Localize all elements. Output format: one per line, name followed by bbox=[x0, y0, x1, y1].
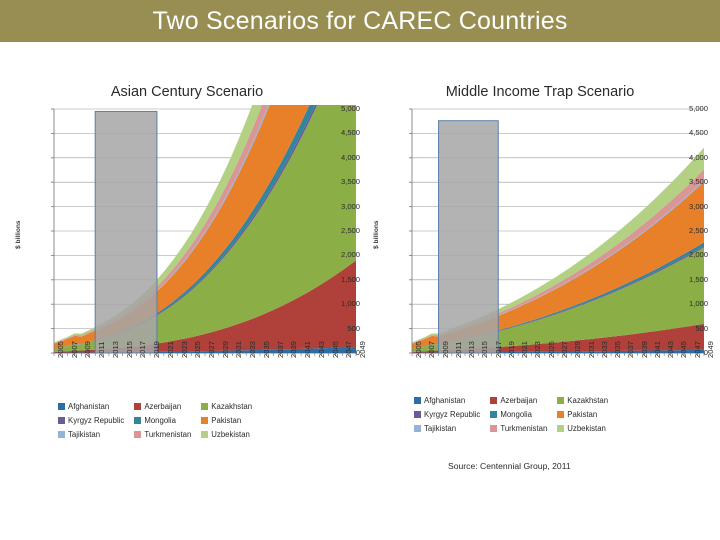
legend-item-mongolia[interactable]: Mongolia bbox=[490, 410, 547, 419]
x-tick-label: 2031 bbox=[588, 341, 596, 358]
legend-label: Azerbaijan bbox=[144, 402, 181, 411]
y-tick-label: 5,000 bbox=[674, 105, 708, 113]
legend-item-azerbaijan[interactable]: Azerbaijan bbox=[134, 402, 191, 411]
x-tick-label: 2021 bbox=[167, 341, 175, 358]
x-tick-label: 2027 bbox=[561, 341, 569, 358]
legend-label: Kyrgyz Republic bbox=[68, 416, 124, 425]
legend-item-kyrgyz-republic[interactable]: Kyrgyz Republic bbox=[414, 410, 480, 419]
chart-title-middle-income-trap: Middle Income Trap Scenario bbox=[372, 84, 708, 100]
x-tick-label: 2033 bbox=[601, 341, 609, 358]
x-tick-label: 2045 bbox=[332, 341, 340, 358]
x-tick-label: 2027 bbox=[208, 341, 216, 358]
legend-label: Afghanistan bbox=[424, 396, 465, 405]
chart-panel-middle-income-trap: Middle Income Trap Scenario 05001,0001,5… bbox=[372, 84, 708, 395]
legend-label: Mongolia bbox=[500, 410, 532, 419]
y-tick-label: 3,000 bbox=[674, 203, 708, 211]
x-tick-label: 2031 bbox=[235, 341, 243, 358]
legend-label: Pakistan bbox=[211, 416, 241, 425]
y-tick-label: 3,500 bbox=[326, 178, 360, 186]
x-tick-label: 2009 bbox=[442, 341, 450, 358]
x-tick-label: 2029 bbox=[222, 341, 230, 358]
legend-label: Tajikistan bbox=[424, 424, 456, 433]
slide-canvas: Two Scenarios for CAREC Countries Asian … bbox=[0, 0, 720, 540]
highlight-band bbox=[439, 121, 499, 353]
legend-label: Kazakhstan bbox=[567, 396, 608, 405]
legend-label: Tajikistan bbox=[68, 430, 100, 439]
legend-item-uzbekistan[interactable]: Uzbekistan bbox=[557, 424, 608, 433]
legend-item-uzbekistan[interactable]: Uzbekistan bbox=[201, 430, 252, 439]
x-tick-label: 2025 bbox=[194, 341, 202, 358]
x-tick-label: 2017 bbox=[139, 341, 147, 358]
y-tick-label: 4,500 bbox=[326, 130, 360, 138]
legend-swatch-icon bbox=[58, 417, 65, 424]
y-tick-label: 2,500 bbox=[326, 227, 360, 235]
legend-swatch-icon bbox=[414, 397, 421, 404]
x-tick-label: 2005 bbox=[415, 341, 423, 358]
chart-panel-asian-century: Asian Century Scenario 05001,0001,5002,0… bbox=[14, 84, 360, 395]
legend-label: Mongolia bbox=[144, 416, 176, 425]
legend-label: Pakistan bbox=[567, 410, 597, 419]
x-tick-label: 2033 bbox=[249, 341, 257, 358]
x-tick-label: 2037 bbox=[277, 341, 285, 358]
legend-item-pakistan[interactable]: Pakistan bbox=[201, 416, 252, 425]
x-tick-label: 2035 bbox=[263, 341, 271, 358]
legend-item-pakistan[interactable]: Pakistan bbox=[557, 410, 608, 419]
legend-swatch-icon bbox=[201, 403, 208, 410]
legend-label: Turkmenistan bbox=[144, 430, 191, 439]
x-tick-label: 2025 bbox=[548, 341, 556, 358]
legend-item-tajikistan[interactable]: Tajikistan bbox=[58, 430, 124, 439]
y-tick-label: 5,000 bbox=[326, 105, 360, 113]
y-tick-label: 4,500 bbox=[674, 130, 708, 138]
y-tick-label: 1,500 bbox=[674, 276, 708, 284]
x-tick-label: 2049 bbox=[707, 341, 715, 358]
legend-label: Afghanistan bbox=[68, 402, 109, 411]
y-tick-label: 4,000 bbox=[326, 154, 360, 162]
x-tick-label: 2007 bbox=[71, 341, 79, 358]
legend-swatch-icon bbox=[557, 411, 564, 418]
legend-item-mongolia[interactable]: Mongolia bbox=[134, 416, 191, 425]
legend-swatch-icon bbox=[414, 425, 421, 432]
legend-item-kyrgyz-republic[interactable]: Kyrgyz Republic bbox=[58, 416, 124, 425]
y-tick-label: 4,000 bbox=[674, 154, 708, 162]
x-tick-label: 2005 bbox=[57, 341, 65, 358]
legend-label: Turkmenistan bbox=[500, 424, 547, 433]
y-tick-label: 1,000 bbox=[326, 300, 360, 308]
x-tick-label: 2029 bbox=[574, 341, 582, 358]
legend-label: Kyrgyz Republic bbox=[424, 410, 480, 419]
legend-swatch-icon bbox=[557, 397, 564, 404]
legend-item-turkmenistan[interactable]: Turkmenistan bbox=[490, 424, 547, 433]
legend-swatch-icon bbox=[134, 417, 141, 424]
y-tick-label: 500 bbox=[674, 325, 708, 333]
x-tick-label: 2039 bbox=[290, 341, 298, 358]
chart-legend-asian-century: AfghanistanAzerbaijanKazakhstanKyrgyz Re… bbox=[58, 402, 252, 439]
legend-item-kazakhstan[interactable]: Kazakhstan bbox=[557, 396, 608, 405]
legend-swatch-icon bbox=[58, 431, 65, 438]
legend-swatch-icon bbox=[201, 431, 208, 438]
y-axis-title: $ billions bbox=[373, 220, 380, 249]
y-tick-label: 1,500 bbox=[326, 276, 360, 284]
y-tick-label: 3,500 bbox=[674, 178, 708, 186]
legend-swatch-icon bbox=[490, 425, 497, 432]
highlight-band bbox=[95, 111, 157, 353]
x-tick-label: 2019 bbox=[508, 341, 516, 358]
x-tick-label: 2013 bbox=[468, 341, 476, 358]
legend-label: Kazakhstan bbox=[211, 402, 252, 411]
legend-swatch-icon bbox=[490, 397, 497, 404]
x-tick-label: 2019 bbox=[153, 341, 161, 358]
plot-area-asian-century: 05001,0001,5002,0002,5003,0003,5004,0004… bbox=[14, 105, 360, 395]
x-tick-label: 2043 bbox=[667, 341, 675, 358]
x-tick-label: 2011 bbox=[98, 342, 106, 358]
y-tick-label: 500 bbox=[326, 325, 360, 333]
legend-swatch-icon bbox=[490, 411, 497, 418]
x-tick-label: 2041 bbox=[304, 341, 312, 358]
chart-title-asian-century: Asian Century Scenario bbox=[14, 84, 360, 100]
chart-legend-middle-income-trap: AfghanistanAzerbaijanKazakhstanKyrgyz Re… bbox=[414, 396, 608, 433]
legend-swatch-icon bbox=[134, 403, 141, 410]
legend-item-azerbaijan[interactable]: Azerbaijan bbox=[490, 396, 547, 405]
x-tick-label: 2013 bbox=[112, 341, 120, 358]
legend-item-afghanistan[interactable]: Afghanistan bbox=[414, 396, 480, 405]
x-tick-label: 2045 bbox=[680, 341, 688, 358]
x-tick-label: 2021 bbox=[521, 341, 529, 358]
y-tick-label: 2,500 bbox=[674, 227, 708, 235]
y-axis-title: $ billions bbox=[15, 220, 22, 249]
slide-title-banner: Two Scenarios for CAREC Countries bbox=[0, 0, 720, 42]
x-tick-label: 2007 bbox=[428, 341, 436, 358]
x-tick-label: 2009 bbox=[84, 341, 92, 358]
x-tick-label: 2049 bbox=[359, 341, 367, 358]
legend-label: Uzbekistan bbox=[567, 424, 606, 433]
x-tick-label: 2047 bbox=[345, 341, 353, 358]
x-tick-label: 2011 bbox=[455, 342, 463, 358]
legend-swatch-icon bbox=[557, 425, 564, 432]
x-tick-label: 2023 bbox=[534, 341, 542, 358]
y-tick-label: 1,000 bbox=[674, 300, 708, 308]
legend-swatch-icon bbox=[201, 417, 208, 424]
source-note: Source: Centennial Group, 2011 bbox=[448, 461, 571, 471]
legend-item-afghanistan[interactable]: Afghanistan bbox=[58, 402, 124, 411]
x-tick-label: 2023 bbox=[181, 341, 189, 358]
x-tick-label: 2047 bbox=[694, 341, 702, 358]
legend-item-tajikistan[interactable]: Tajikistan bbox=[414, 424, 480, 433]
y-tick-label: 3,000 bbox=[326, 203, 360, 211]
x-tick-label: 2039 bbox=[641, 341, 649, 358]
x-tick-label: 2037 bbox=[627, 341, 635, 358]
legend-swatch-icon bbox=[134, 431, 141, 438]
x-tick-label: 2015 bbox=[126, 341, 134, 358]
page-title: Two Scenarios for CAREC Countries bbox=[152, 7, 567, 36]
x-tick-label: 2015 bbox=[481, 341, 489, 358]
legend-item-turkmenistan[interactable]: Turkmenistan bbox=[134, 430, 191, 439]
x-tick-label: 2017 bbox=[495, 341, 503, 358]
plot-area-middle-income-trap: 05001,0001,5002,0002,5003,0003,5004,0004… bbox=[372, 105, 708, 395]
x-tick-label: 2035 bbox=[614, 341, 622, 358]
legend-swatch-icon bbox=[414, 411, 421, 418]
legend-item-kazakhstan[interactable]: Kazakhstan bbox=[201, 402, 252, 411]
x-tick-label: 2041 bbox=[654, 341, 662, 358]
legend-label: Azerbaijan bbox=[500, 396, 537, 405]
y-tick-label: 2,000 bbox=[674, 252, 708, 260]
legend-label: Uzbekistan bbox=[211, 430, 250, 439]
x-tick-label: 2043 bbox=[318, 341, 326, 358]
y-tick-label: 2,000 bbox=[326, 252, 360, 260]
legend-swatch-icon bbox=[58, 403, 65, 410]
